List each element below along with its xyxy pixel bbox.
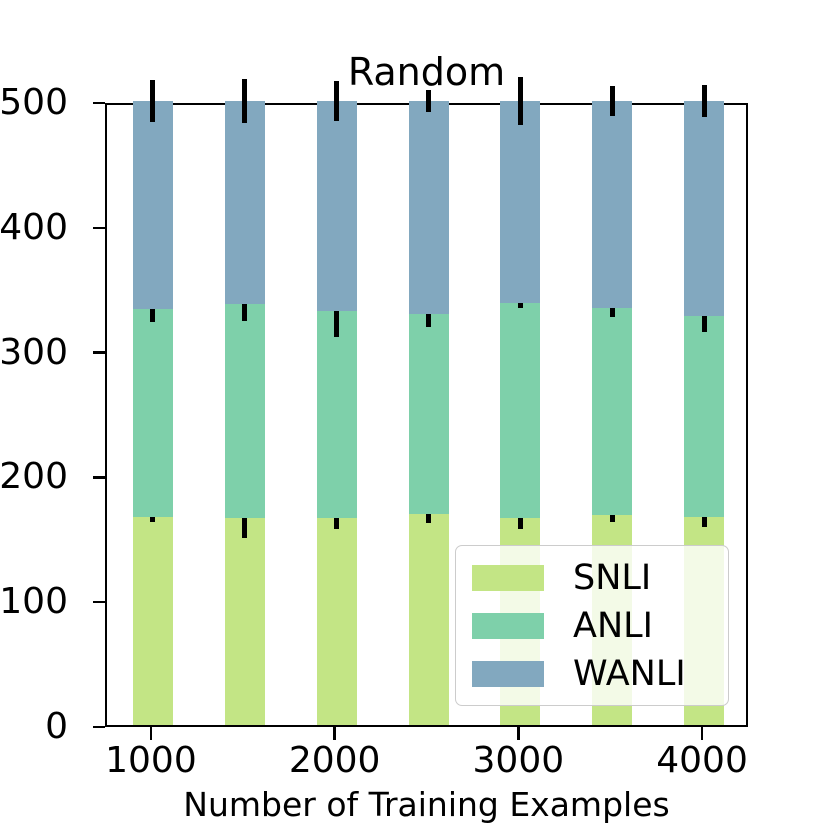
bar-segment-wanli[interactable] bbox=[500, 101, 540, 303]
legend-swatch-anli bbox=[472, 613, 544, 639]
chart-legend[interactable]: SNLIANLIWANLI bbox=[455, 545, 729, 706]
bar-segment-wanli[interactable] bbox=[684, 101, 724, 316]
error-bar-wanli bbox=[518, 77, 523, 124]
bar-segment-wanli[interactable] bbox=[133, 101, 173, 309]
y-tick-mark bbox=[93, 351, 105, 353]
error-bar-wanli bbox=[150, 80, 155, 122]
x-tick-label: 1000 bbox=[105, 742, 197, 780]
bar-segment-anli[interactable] bbox=[225, 304, 265, 517]
bar-segment-wanli[interactable] bbox=[225, 101, 265, 304]
legend-label: SNLI bbox=[573, 561, 651, 596]
bar-segment-anli[interactable] bbox=[592, 308, 632, 515]
legend-label: WANLI bbox=[573, 657, 686, 692]
bar-segment-anli[interactable] bbox=[500, 303, 540, 518]
x-tick-mark bbox=[701, 727, 704, 740]
legend-swatch-snli bbox=[472, 565, 544, 591]
x-tick-label: 3000 bbox=[473, 742, 565, 780]
bar-stack[interactable] bbox=[409, 101, 449, 725]
chart-figure: Random 0100200300400500 1000200030004000… bbox=[0, 0, 830, 830]
bar-segment-anli[interactable] bbox=[133, 309, 173, 516]
bar-segment-wanli[interactable] bbox=[317, 101, 357, 311]
bar-segment-snli[interactable] bbox=[133, 517, 173, 725]
error-bar-wanli bbox=[426, 90, 431, 112]
bar-segment-snli[interactable] bbox=[225, 518, 265, 725]
bar-segment-anli[interactable] bbox=[684, 316, 724, 517]
y-tick-mark bbox=[93, 102, 105, 104]
x-tick-mark bbox=[517, 727, 520, 740]
y-tick-mark bbox=[93, 726, 105, 728]
y-tick-mark bbox=[93, 601, 105, 603]
bar-stack[interactable] bbox=[317, 101, 357, 725]
legend-item[interactable]: WANLI bbox=[456, 650, 728, 698]
x-tick-label: 4000 bbox=[656, 742, 748, 780]
y-tick-label: 200 bbox=[0, 459, 68, 495]
bar-segment-wanli[interactable] bbox=[592, 101, 632, 308]
error-bar-wanli bbox=[242, 79, 247, 124]
y-tick-mark bbox=[93, 476, 105, 478]
y-tick-label: 500 bbox=[0, 85, 68, 121]
bar-segment-snli[interactable] bbox=[317, 518, 357, 725]
bar-segment-anli[interactable] bbox=[409, 314, 449, 514]
x-tick-mark bbox=[333, 727, 336, 740]
y-tick-mark bbox=[93, 227, 105, 229]
legend-item[interactable]: SNLI bbox=[456, 554, 728, 602]
legend-label: ANLI bbox=[573, 609, 653, 644]
bar-stack[interactable] bbox=[133, 101, 173, 725]
y-tick-label: 400 bbox=[0, 210, 68, 246]
bar-segment-wanli[interactable] bbox=[409, 101, 449, 314]
y-tick-label: 0 bbox=[45, 709, 68, 745]
x-tick-label: 2000 bbox=[289, 742, 381, 780]
legend-item[interactable]: ANLI bbox=[456, 602, 728, 650]
error-bar-wanli bbox=[610, 86, 615, 116]
y-tick-label: 100 bbox=[0, 584, 68, 620]
chart-title: Random bbox=[105, 50, 748, 94]
x-axis-label: Number of Training Examples bbox=[105, 786, 748, 824]
legend-swatch-wanli bbox=[472, 661, 544, 687]
x-tick-mark bbox=[150, 727, 153, 740]
error-bar-wanli bbox=[702, 85, 707, 117]
error-bar-wanli bbox=[334, 81, 339, 121]
bar-stack[interactable] bbox=[225, 101, 265, 725]
bar-segment-snli[interactable] bbox=[409, 514, 449, 725]
bar-segment-anli[interactable] bbox=[317, 311, 357, 518]
y-tick-label: 300 bbox=[0, 335, 68, 371]
